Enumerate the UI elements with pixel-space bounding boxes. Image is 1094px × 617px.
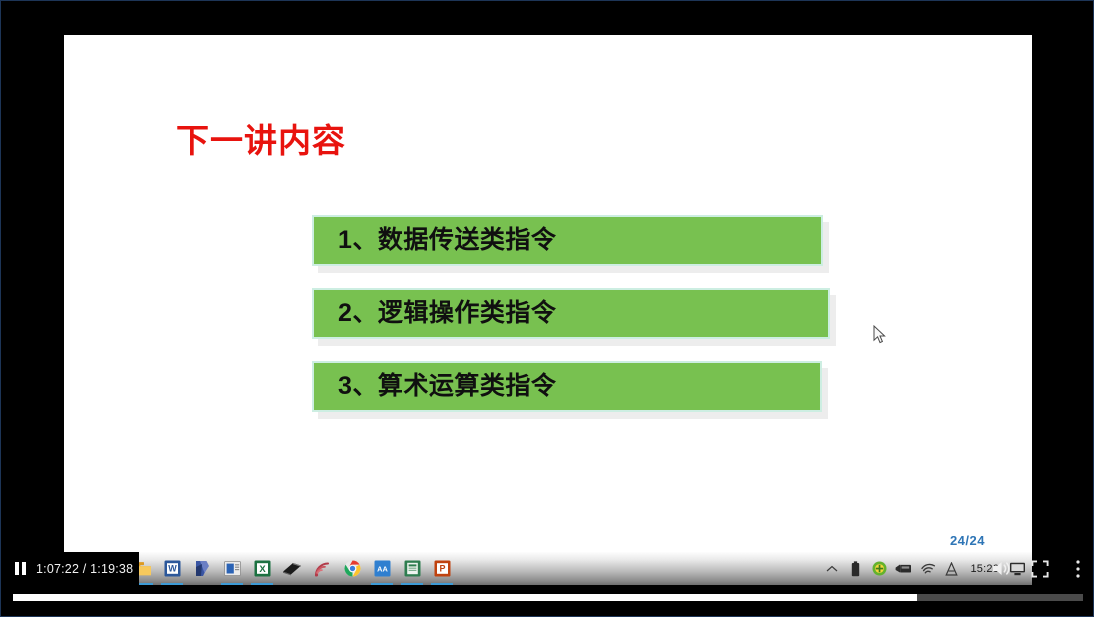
- video-player: 下一讲内容 1、数据传送类指令 2、逻辑操作类指令 3、算术运算类指令 24/2…: [0, 0, 1094, 617]
- pause-bar-right: [22, 562, 26, 575]
- slides-icon[interactable]: [217, 552, 247, 585]
- powerpoint-icon[interactable]: P: [427, 552, 457, 585]
- slide-title: 下一讲内容: [176, 124, 346, 157]
- slide-page-number: 24/24: [950, 533, 985, 548]
- battery-icon[interactable]: [847, 552, 864, 585]
- progress-fill: [13, 594, 917, 601]
- signal-icon[interactable]: [307, 552, 337, 585]
- pause-bar-left: [15, 562, 19, 575]
- excel-icon[interactable]: X: [247, 552, 277, 585]
- slide-bullet-item-2: 2、逻辑操作类指令: [312, 288, 830, 339]
- shield-green-icon[interactable]: [871, 552, 888, 585]
- blue-square-icon[interactable]: AA: [367, 552, 397, 585]
- svg-text:P: P: [439, 564, 445, 574]
- fullscreen-icon[interactable]: [1029, 558, 1051, 580]
- wifi-icon[interactable]: [919, 552, 936, 585]
- slide-bullet-label: 2、逻辑操作类指令: [314, 301, 556, 326]
- svg-text:AA: AA: [377, 564, 388, 573]
- more-vertical-icon[interactable]: [1067, 558, 1089, 580]
- visio-icon[interactable]: [187, 552, 217, 585]
- green-square-icon[interactable]: [397, 552, 427, 585]
- chrome-icon[interactable]: [337, 552, 367, 585]
- pause-button[interactable]: [13, 562, 27, 576]
- slide-bullet-label: 3、算术运算类指令: [314, 374, 556, 399]
- svg-text:W: W: [168, 564, 177, 574]
- volume-icon[interactable]: [991, 558, 1013, 580]
- ime-icon[interactable]: [943, 552, 960, 585]
- windows-taskbar: W: [64, 552, 1032, 585]
- slide-canvas: 下一讲内容 1、数据传送类指令 2、逻辑操作类指令 3、算术运算类指令 24/2…: [64, 35, 1032, 552]
- slide-bullet-label: 1、数据传送类指令: [314, 228, 556, 253]
- progress-bar[interactable]: [13, 594, 1083, 601]
- player-controls-right: [991, 552, 1089, 585]
- time-display: 1:07:22 / 1:19:38: [36, 562, 133, 576]
- slide-bullet-item-1: 1、数据传送类指令: [312, 215, 823, 266]
- network-icon[interactable]: [895, 552, 912, 585]
- player-controls-left: 1:07:22 / 1:19:38: [9, 552, 139, 585]
- word-icon[interactable]: W: [157, 552, 187, 585]
- chevron-up-icon[interactable]: [823, 552, 840, 585]
- book-icon[interactable]: [277, 552, 307, 585]
- slide-bullet-list: 1、数据传送类指令 2、逻辑操作类指令 3、算术运算类指令: [312, 215, 832, 434]
- slide-bullet-item-3: 3、算术运算类指令: [312, 361, 822, 412]
- svg-text:X: X: [259, 564, 266, 575]
